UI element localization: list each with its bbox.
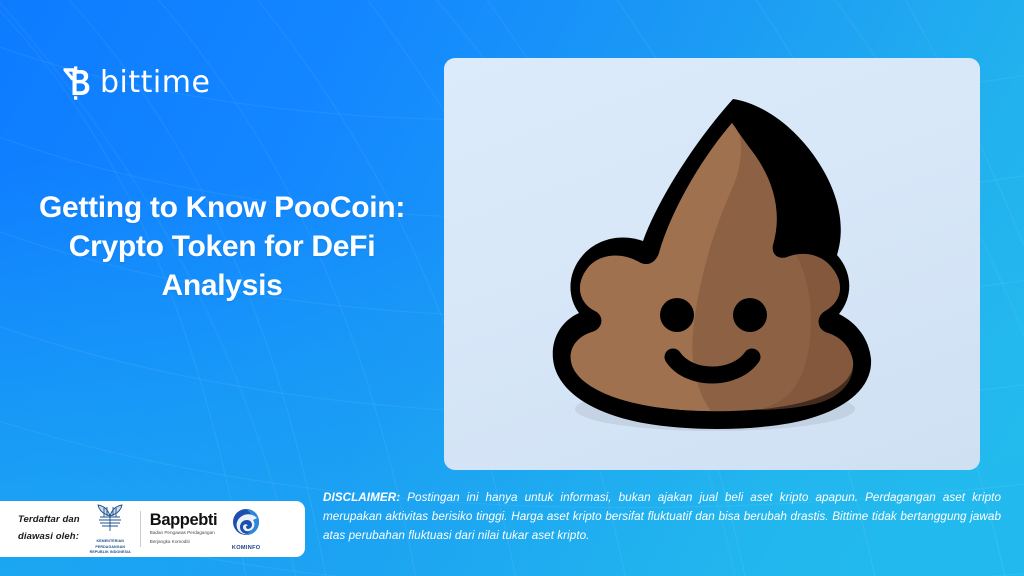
- kemendag-caption-line-2: PERDAGANGAN: [90, 545, 131, 550]
- bappebti-subtitle-line-2: Berjangka Komoditi: [150, 539, 217, 546]
- hero-image-card: [444, 58, 980, 470]
- bappebti-title: Bappebti: [150, 512, 217, 529]
- emoji-left-eye: [660, 298, 694, 332]
- kominfo-caption: KOMINFO: [229, 545, 263, 551]
- bittime-b-mark-icon: [61, 66, 91, 100]
- kominfo-logo-block: KOMINFO: [229, 508, 263, 551]
- brand-wordmark: bittime: [100, 68, 210, 98]
- supervised-by-label: Terdaftar dan diawasi oleh:: [18, 512, 80, 545]
- kemendag-caption-line-3: REPUBLIK INDONESIA: [90, 550, 131, 555]
- disclaimer-text: DISCLAIMER: Postingan ini hanya untuk in…: [323, 489, 1001, 546]
- pile-of-poo-emoji-icon: [547, 93, 877, 435]
- kemendag-logo-block: KEMENTERIAN PERDAGANGAN REPUBLIK INDONES…: [90, 503, 131, 556]
- disclaimer-label: DISCLAIMER:: [323, 491, 400, 504]
- bappebti-logo-block: Bappebti Badan Pengawas Perdagangan Berj…: [150, 512, 217, 546]
- supervised-by-line-1: Terdaftar dan: [18, 512, 80, 529]
- kementerian-perdagangan-logo-icon: [94, 503, 126, 533]
- bappebti-subtitle-line-1: Badan Pengawas Perdagangan: [150, 530, 217, 537]
- banner-stage: bittime Getting to Know PooCoin: Crypto …: [0, 0, 1024, 576]
- page-title: Getting to Know PooCoin: Crypto Token fo…: [0, 188, 444, 305]
- brand-logo[interactable]: bittime: [61, 66, 210, 100]
- disclaimer-body: Postingan ini hanya untuk informasi, buk…: [323, 491, 1001, 542]
- regulator-badge-strip: Terdaftar dan diawasi oleh: KEMENTERIAN …: [0, 501, 305, 557]
- kemendag-caption-line-1: KEMENTERIAN: [90, 539, 131, 544]
- kominfo-logo-icon: [229, 508, 263, 540]
- strip-divider: [140, 511, 141, 547]
- emoji-right-eye: [733, 298, 767, 332]
- supervised-by-line-2: diawasi oleh:: [18, 529, 80, 546]
